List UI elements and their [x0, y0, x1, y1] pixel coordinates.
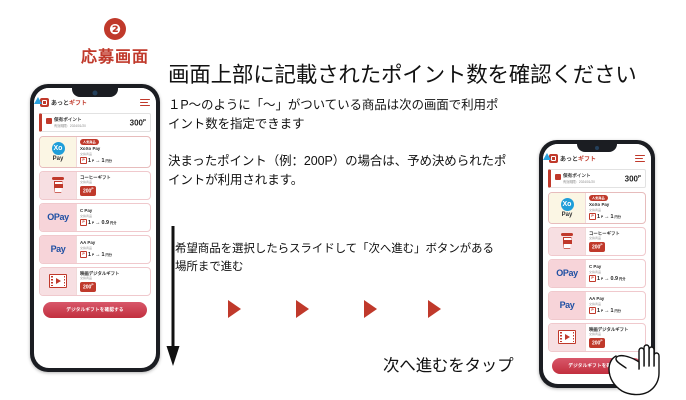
product-sub: 交換商品 [589, 271, 642, 275]
rate-to-unit: 円分 [619, 276, 625, 281]
product-body: 人気商品 XoXo Pay 交換商品 P 1P → 1円分 [76, 137, 150, 167]
points-value: 300P [625, 174, 641, 184]
point-icon: P [80, 219, 87, 226]
phone-screen-primary: あっとギフト 保有ポイント 有効期限：2024/01/20 300P [34, 88, 156, 368]
right-triangle-icon [364, 300, 377, 318]
product-thumb: OPay [40, 204, 76, 231]
step-title: 応募画面 [55, 43, 175, 67]
xoxo-pay-icon: Xo Pay [561, 198, 574, 218]
xoxo-label: Pay [562, 212, 573, 218]
product-sub: 交換商品 [80, 215, 147, 219]
product-body: AA Pay 交換商品 P 1P → 1円分 [76, 236, 150, 263]
slide-instruction-note: 希望商品を選択したらスライドして「次へ進む」ボタンがある場所まで進む [175, 240, 505, 277]
product-name: C Pay [80, 208, 147, 213]
product-card-aa-pay[interactable]: Pay AA Pay 交換商品 P 1P → 1円分 [39, 235, 151, 264]
product-name: AA Pay [80, 240, 147, 245]
app-brand: あっとギフト [549, 154, 596, 163]
confirm-gift-button[interactable]: デジタルギフトを確認する [43, 302, 147, 318]
aa-pay-label: Pay [51, 244, 66, 254]
product-thumb [549, 324, 585, 351]
xoxo-mark: Xo [52, 142, 65, 155]
phone-notch [577, 144, 617, 152]
product-thumb: OPay [549, 260, 585, 287]
rate-from-unit: P [92, 221, 94, 225]
brand-suffix: ギフト [578, 157, 596, 163]
product-price-pill: 200P [589, 242, 605, 252]
product-list: Xo Pay 人気商品 XoXo Pay 交換商品 P 1P → 1円分 [543, 192, 651, 352]
points-badge-icon [46, 118, 52, 124]
points-text-group: 保有ポイント 有効期限：2024/01/20 [563, 173, 595, 184]
phone-mockup-primary: あっとギフト 保有ポイント 有効期限：2024/01/20 300P [30, 84, 160, 372]
points-bar: 保有ポイント 有効期限：2024/01/20 300P [39, 113, 151, 132]
aa-pay-icon: Pay [560, 300, 575, 310]
rate-from: 1 [88, 158, 91, 164]
product-card-coffee-gift[interactable]: コーヒーギフト 交換商品 200P [548, 227, 646, 256]
pill-unit: P [91, 187, 93, 191]
description-paragraph-2: 決まったポイント（例：200P）の場合は、予め決められたポイントが利用されます。 [168, 152, 508, 191]
hamburger-icon[interactable] [635, 155, 645, 163]
product-name: XoXo Pay [589, 202, 642, 207]
coffee-cup-icon [561, 233, 573, 249]
product-rate: P 1P → 1円分 [80, 251, 147, 258]
rate-arrow: → [604, 308, 609, 314]
xoxo-label: Pay [53, 156, 64, 162]
product-tag: 人気商品 [589, 195, 608, 201]
step-number-badge: ❷ [104, 18, 126, 40]
points-value-number: 300 [130, 118, 143, 127]
product-sub: 交換商品 [589, 237, 642, 241]
product-rate: P 1P → 0.9円分 [80, 219, 147, 226]
brand-text: あっとギフト [560, 154, 596, 163]
product-thumb [40, 268, 76, 295]
product-thumb: Xo Pay [40, 137, 76, 167]
rate-to-unit: 円分 [615, 308, 621, 313]
product-body: 人気商品 XoXo Pay 交換商品 P 1P → 1円分 [585, 193, 645, 223]
points-text-group: 保有ポイント 有効期限：2024/01/20 [54, 117, 86, 128]
points-bar: 保有ポイント 有効期限：2024/01/20 300P [548, 169, 646, 188]
pill-unit: P [600, 243, 602, 247]
product-sub: 交換商品 [589, 303, 642, 307]
product-name: AA Pay [589, 296, 642, 301]
rate-to-unit: 円分 [615, 214, 621, 219]
product-rate: P 1P → 0.9円分 [589, 275, 642, 282]
product-body: C Pay 交換商品 P 1P → 0.9円分 [585, 260, 645, 287]
product-body: コーヒーギフト 交換商品 200P [585, 228, 645, 255]
brand-text: あっとギフト [51, 98, 87, 107]
coffee-cup-icon [52, 177, 64, 193]
brand-prefix: あっと [51, 101, 69, 107]
xoxo-pay-icon: Xo Pay [52, 142, 65, 162]
product-tag: 人気商品 [80, 139, 99, 145]
points-value-number: 300 [625, 174, 638, 183]
rate-to: 1 [102, 252, 105, 258]
product-body: AA Pay 交換商品 P 1P → 1円分 [585, 292, 645, 319]
product-card-aa-pay[interactable]: Pay AA Pay 交換商品 P 1P → 1円分 [548, 291, 646, 320]
point-icon: P [80, 157, 87, 164]
points-expiry: 有効期限：2024/01/20 [54, 124, 86, 128]
product-card-xoxo-pay[interactable]: Xo Pay 人気商品 XoXo Pay 交換商品 P 1P → 1円分 [39, 136, 151, 168]
rate-to: 0.9 [611, 276, 619, 282]
rate-from-unit: P [601, 309, 603, 313]
app-brand: あっとギフト [40, 98, 87, 107]
points-bar-left: 保有ポイント 有効期限：2024/01/20 [46, 117, 86, 128]
camera-dot-icon [595, 146, 599, 150]
point-icon: P [589, 275, 596, 282]
tap-next-label: 次へ進むをタップ [383, 352, 513, 376]
product-sub: 交換商品 [589, 209, 642, 213]
points-value: 300P [130, 118, 146, 128]
camera-dot-icon [93, 90, 98, 95]
rate-arrow: → [95, 158, 100, 164]
brand-suffix: ギフト [69, 101, 87, 107]
rate-to: 0.9 [102, 220, 110, 226]
product-thumb [40, 172, 76, 199]
point-icon: P [80, 251, 87, 258]
aa-pay-label: Pay [560, 300, 575, 310]
product-name: C Pay [589, 264, 642, 269]
product-body: C Pay 交換商品 P 1P → 0.9円分 [76, 204, 150, 231]
right-triangle-icon [428, 300, 441, 318]
product-card-c-pay[interactable]: OPay C Pay 交換商品 P 1P → 0.9円分 [39, 203, 151, 232]
rate-to-unit: 円分 [110, 220, 116, 225]
pill-unit: P [91, 283, 93, 287]
rate-to-unit: 円分 [106, 252, 112, 257]
brand-prefix: あっと [560, 157, 578, 163]
rate-from: 1 [597, 308, 600, 314]
description-paragraph-1: １P〜のように「〜」がついている商品は次の画面で利用ポイント数を指定できます [168, 96, 508, 135]
tapping-hand-icon [596, 336, 666, 398]
step-block: ❷ 応募画面 [55, 18, 175, 67]
rate-arrow: → [95, 252, 100, 258]
points-bar-left: 保有ポイント 有効期限：2024/01/20 [555, 173, 595, 184]
rate-arrow: → [604, 276, 609, 282]
rate-from: 1 [88, 252, 91, 258]
product-thumb [549, 228, 585, 255]
aa-pay-icon: Pay [51, 244, 66, 254]
product-body: 映画デジタルギフト 交換商品 200P [76, 268, 150, 295]
product-rate: P 1P → 1円分 [80, 157, 147, 164]
rate-to: 1 [611, 308, 614, 314]
rate-from: 1 [88, 220, 91, 226]
film-play-icon [558, 330, 576, 344]
points-label: 保有ポイント [54, 117, 86, 123]
points-value-unit: P [638, 174, 641, 179]
product-sub: 交換商品 [80, 277, 147, 281]
product-card-c-pay[interactable]: OPay C Pay 交換商品 P 1P → 0.9円分 [548, 259, 646, 288]
rate-from: 1 [597, 214, 600, 220]
rate-arrow: → [604, 214, 609, 220]
product-price-pill: 200P [80, 186, 96, 196]
product-sub: 交換商品 [80, 181, 147, 185]
points-expiry: 有効期限：2024/01/20 [563, 180, 595, 184]
right-triangle-icon [296, 300, 309, 318]
product-price-pill: 200P [80, 282, 96, 292]
right-triangle-icon [228, 300, 241, 318]
rate-from: 1 [597, 276, 600, 282]
product-card-coffee-gift[interactable]: コーヒーギフト 交換商品 200P [39, 171, 151, 200]
product-sub: 交換商品 [80, 153, 147, 157]
rate-from-unit: P [92, 253, 94, 257]
rate-to: 1 [611, 214, 614, 220]
rate-from-unit: P [601, 277, 603, 281]
right-arrow-sequence [228, 300, 458, 326]
product-thumb: Pay [40, 236, 76, 263]
instruction-graphic: ❷ 応募画面 あっとギフト 保有ポイント 有効期限：2024/0 [0, 0, 686, 400]
product-body: コーヒーギフト 交換商品 200P [76, 172, 150, 199]
rate-from-unit: P [601, 215, 603, 219]
rate-to: 1 [102, 158, 105, 164]
product-thumb: Pay [549, 292, 585, 319]
product-sub: 交換商品 [80, 247, 147, 251]
product-rate: P 1P → 1円分 [589, 213, 642, 220]
point-icon: P [589, 307, 596, 314]
points-value-unit: P [143, 118, 146, 123]
point-icon: P [589, 213, 596, 220]
product-thumb: Xo Pay [549, 193, 585, 223]
page-title: 画面上部に記載されたポイント数を確認ください [168, 58, 678, 89]
xoxo-mark: Xo [561, 198, 574, 211]
product-name: XoXo Pay [80, 146, 147, 151]
product-card-movie-gift[interactable]: 映画デジタルギフト 交換商品 200P [39, 267, 151, 296]
rate-arrow: → [95, 220, 100, 226]
points-label: 保有ポイント [563, 173, 595, 179]
opay-icon: OPay [47, 212, 68, 222]
points-badge-icon [555, 174, 561, 180]
rate-to-unit: 円分 [106, 158, 112, 163]
rate-from-unit: P [92, 159, 94, 163]
product-card-xoxo-pay[interactable]: Xo Pay 人気商品 XoXo Pay 交換商品 P 1P → 1円分 [548, 192, 646, 224]
opay-icon: OPay [556, 268, 577, 278]
product-rate: P 1P → 1円分 [589, 307, 642, 314]
hamburger-icon[interactable] [140, 99, 150, 107]
phone-notch [72, 88, 118, 97]
product-list: Xo Pay 人気商品 XoXo Pay 交換商品 P 1P → 1円分 [34, 136, 156, 296]
film-play-icon [49, 274, 67, 288]
